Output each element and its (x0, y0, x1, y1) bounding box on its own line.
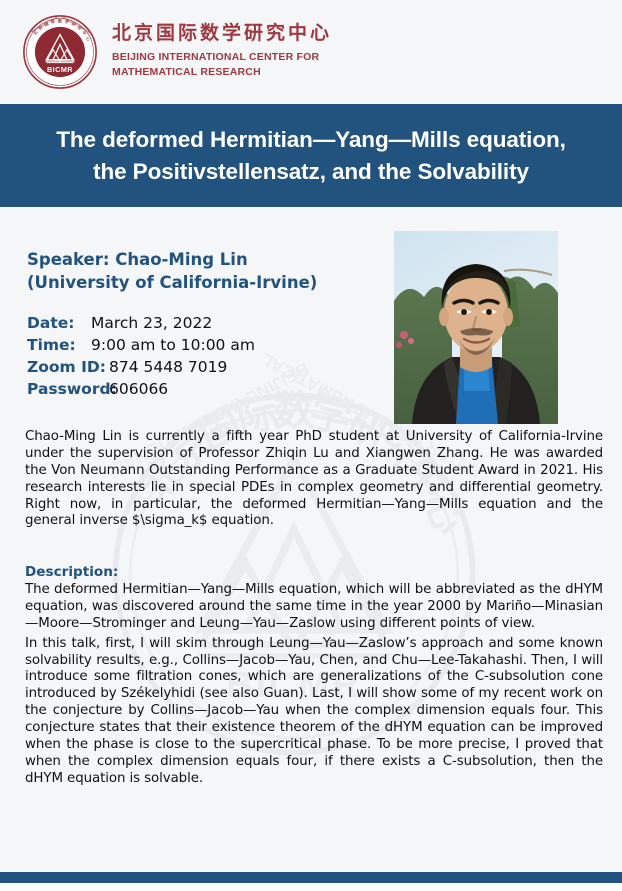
detail-label-time: Time: (27, 334, 85, 356)
org-name-chinese: 北京国际数学研究中心 (112, 24, 332, 43)
detail-label-date: Date: (27, 312, 85, 334)
detail-row-time: Time: 9:00 am to 10:00 am (27, 334, 387, 356)
poster-header: BICMR 北 京 国 际 数 学 研 究 中 心 BEIJING INTERN… (0, 0, 622, 104)
detail-value-password: 606066 (109, 378, 168, 400)
description-paragraph-2: In this talk, first, I will skim through… (25, 636, 603, 788)
speaker-biography: Chao-Ming Lin is currently a fifth year … (25, 429, 603, 530)
talk-title-line1: The deformed Hermitian—Yang—Mills equati… (56, 124, 566, 156)
org-name-english: BEIJING INTERNATIONAL CENTER FOR MATHEMA… (112, 50, 332, 80)
org-name-english-line1: BEIJING INTERNATIONAL CENTER FOR (112, 50, 332, 65)
footer-bar (0, 872, 622, 883)
detail-value-time: 9:00 am to 10:00 am (91, 334, 255, 356)
detail-value-date: March 23, 2022 (91, 312, 212, 334)
detail-label-password: Password: (27, 378, 103, 400)
talk-details-list: Date: March 23, 2022 Time: 9:00 am to 10… (27, 312, 387, 400)
description-body: The deformed Hermitian—Yang—Mills equati… (25, 582, 603, 788)
speaker-affiliation: (University of California-Irvine) (27, 272, 387, 295)
bicmr-seal-logo-icon: BICMR 北 京 国 际 数 学 研 究 中 心 BEIJING INTERN… (22, 14, 98, 90)
detail-row-password: Password: 606066 (27, 378, 387, 400)
seminar-poster: BICMR 北 京 国 际 数 学 研 究 中 心 BEIJING INTERN… (0, 0, 622, 891)
speaker-portrait-photo (394, 231, 558, 424)
description-heading: Description: (25, 564, 118, 580)
detail-row-zoom-id: Zoom ID: 874 5448 7019 (27, 356, 387, 378)
description-paragraph-1: The deformed Hermitian—Yang—Mills equati… (25, 582, 603, 633)
speaker-name: Speaker: Chao-Ming Lin (27, 249, 387, 272)
speaker-info-block: Speaker: Chao-Ming Lin (University of Ca… (27, 249, 387, 400)
footer-strip (0, 883, 622, 891)
svg-text:BICMR: BICMR (47, 65, 73, 74)
detail-row-date: Date: March 23, 2022 (27, 312, 387, 334)
org-name-english-line2: MATHEMATICAL RESEARCH (112, 65, 332, 80)
organization-name-block: 北京国际数学研究中心 BEIJING INTERNATIONAL CENTER … (112, 24, 332, 80)
talk-title-line2: the Positivstellensatz, and the Solvabil… (93, 156, 529, 188)
detail-label-zoom-id: Zoom ID: (27, 356, 103, 378)
detail-value-zoom-id: 874 5448 7019 (109, 356, 227, 378)
svg-text:数: 数 (57, 18, 62, 23)
talk-title-banner: The deformed Hermitian—Yang—Mills equati… (0, 104, 622, 207)
